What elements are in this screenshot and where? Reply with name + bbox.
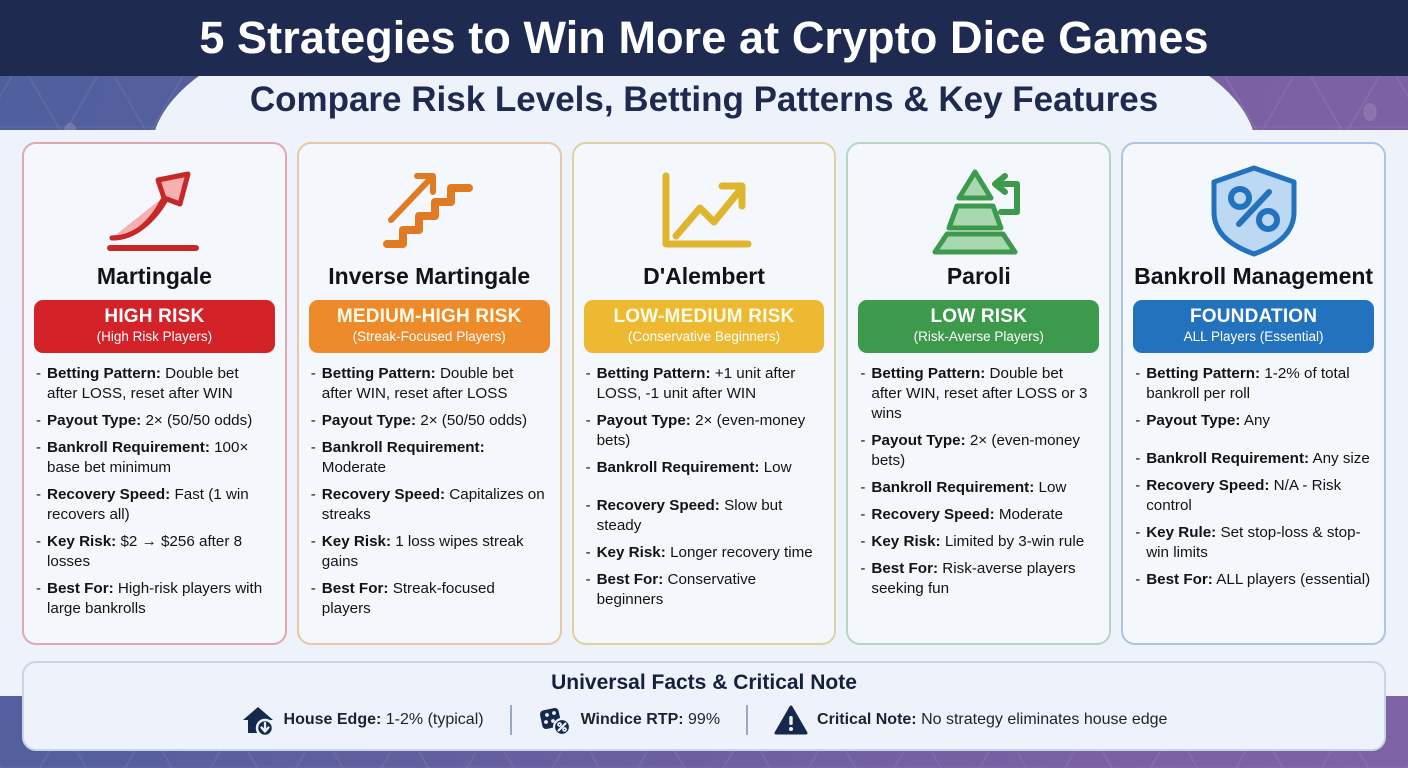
bullet-label: Key Risk: [47, 533, 116, 550]
house-down-arrow-icon [241, 704, 275, 736]
list-item: -Recovery Speed: Slow but steady [586, 496, 823, 536]
list-item: -Betting Pattern: +1 unit after LOSS, -1… [586, 364, 823, 404]
bullet-dash: - [36, 485, 47, 525]
badge-main-label: LOW-MEDIUM RISK [588, 307, 821, 328]
page-subtitle: Compare Risk Levels, Betting Patterns & … [0, 80, 1408, 120]
bullet-label: Bankroll Requirement: [322, 439, 485, 456]
list-item: -Key Rule: Set stop-loss & stop-win limi… [1135, 523, 1372, 563]
bullet-value: Moderate [999, 506, 1063, 523]
bullet-value: Limited by 3-win rule [945, 533, 1084, 550]
line-chart-icon [584, 158, 825, 262]
bullet-dash: - [36, 438, 47, 478]
bullet-value: 2× (50/50 odds) [420, 412, 527, 429]
bullet-dash: - [586, 496, 597, 536]
bullet-label: Best For: [597, 571, 664, 588]
fact-critical-note: Critical Note: No strategy eliminates ho… [748, 704, 1193, 736]
list-item: -Recovery Speed: Capitalizes on streaks [311, 485, 548, 525]
bullet-label: Key Risk: [871, 533, 940, 550]
list-item: -Key Risk: Longer recovery time [586, 543, 823, 563]
bullet-dash: - [1135, 570, 1146, 590]
bullet-dash: - [311, 411, 322, 431]
bullet-label: Bankroll Requirement: [597, 459, 760, 476]
bullet-dash: - [36, 364, 47, 404]
card-title: Inverse Martingale [328, 264, 530, 289]
bullet-label: Betting Pattern: [871, 365, 985, 382]
list-item: -Key Risk: 1 loss wipes streak gains [311, 532, 548, 572]
list-item: -Recovery Speed: Fast (1 win recovers al… [36, 485, 273, 525]
list-item: -Betting Pattern: Double bet after WIN, … [311, 364, 548, 404]
bullet-dash: - [1135, 411, 1146, 431]
footer-title: Universal Facts & Critical Note [551, 671, 857, 695]
strategy-card-martingale[interactable]: Martingale HIGH RISK (High Risk Players)… [22, 142, 287, 645]
fact-label: Critical Note: [817, 711, 917, 728]
bullet-label: Payout Type: [597, 412, 691, 429]
universal-facts-panel: Universal Facts & Critical Note House Ed… [22, 661, 1386, 751]
strategy-card-inverse-martingale[interactable]: Inverse Martingale MEDIUM-HIGH RISK (Str… [297, 142, 562, 645]
list-item: -Payout Type: 2× (even-money bets) [860, 431, 1097, 471]
badge-sub-label: ALL Players (Essential) [1137, 329, 1370, 345]
bullet-label: Key Rule: [1146, 524, 1216, 541]
bullet-dash: - [36, 411, 47, 431]
bullet-dash: - [1135, 449, 1146, 469]
list-item: -Best For: High-risk players with large … [36, 579, 273, 619]
bullet-label: Recovery Speed: [1146, 477, 1269, 494]
bullet-value: Any [1244, 412, 1270, 429]
card-title: D'Alembert [643, 264, 765, 289]
list-item: -Payout Type: Any [1135, 411, 1372, 431]
list-item: -Payout Type: 2× (50/50 odds) [36, 411, 273, 431]
bullet-dash: - [311, 579, 322, 619]
list-item: -Payout Type: 2× (even-money bets) [586, 411, 823, 451]
list-item: -Betting Pattern: Double bet after WIN, … [860, 364, 1097, 424]
bullet-dash: - [586, 543, 597, 563]
bullet-dash: - [586, 411, 597, 451]
bullet-dash: - [586, 364, 597, 404]
status-badge: LOW-MEDIUM RISK (Conservative Beginners) [584, 300, 825, 352]
bullet-dash: - [1135, 523, 1146, 563]
bullet-dash: - [860, 505, 871, 525]
bullet-label: Payout Type: [871, 432, 965, 449]
fact-label: Windice RTP: [581, 711, 684, 728]
bullet-label: Best For: [322, 580, 389, 597]
bullet-dash: - [36, 532, 47, 572]
bullet-dash: - [1135, 476, 1146, 516]
bullet-label: Bankroll Requirement: [47, 439, 210, 456]
bullet-dash: - [860, 532, 871, 552]
bullet-value: ALL players (essential) [1216, 571, 1370, 588]
strategy-card-dalembert[interactable]: D'Alembert LOW-MEDIUM RISK (Conservative… [572, 142, 837, 645]
badge-main-label: FOUNDATION [1137, 307, 1370, 328]
card-title: Bankroll Management [1134, 264, 1373, 289]
bullet-label: Betting Pattern: [47, 365, 161, 382]
dice-icon [538, 704, 572, 736]
status-badge: HIGH RISK (High Risk Players) [34, 300, 275, 352]
list-item: -Key Risk: $2 → $256 after 8 losses [36, 532, 273, 572]
bullet-value: Low [1039, 479, 1067, 496]
bullet-label: Betting Pattern: [597, 365, 711, 382]
badge-sub-label: (High Risk Players) [38, 329, 271, 345]
bullet-dash: - [311, 485, 322, 525]
fact-value: No strategy eliminates house edge [921, 711, 1167, 728]
header-bar: 5 Strategies to Win More at Crypto Dice … [0, 0, 1408, 76]
badge-sub-label: (Conservative Beginners) [588, 329, 821, 345]
bullet-dash: - [36, 579, 47, 619]
badge-sub-label: (Risk-Averse Players) [862, 329, 1095, 345]
bullet-value: Low [764, 459, 792, 476]
bullet-label: Recovery Speed: [322, 486, 445, 503]
bullet-dash: - [860, 364, 871, 424]
list-item: -Bankroll Requirement: Moderate [311, 438, 548, 478]
fact-value: 1-2% (typical) [386, 711, 484, 728]
list-item: -Bankroll Requirement: Any size [1135, 449, 1372, 469]
bullet-label: Best For: [1146, 571, 1213, 588]
bullet-label: Recovery Speed: [597, 497, 720, 514]
status-badge: LOW RISK (Risk-Averse Players) [858, 300, 1099, 352]
bullet-dash: - [586, 458, 597, 478]
bullet-dash: - [586, 570, 597, 610]
staircase-arrow-icon [309, 158, 550, 262]
bullet-label: Key Risk: [322, 533, 391, 550]
bullet-value: 2× (50/50 odds) [145, 412, 252, 429]
shield-percent-icon [1133, 158, 1374, 262]
bullet-label: Betting Pattern: [322, 365, 436, 382]
badge-main-label: MEDIUM-HIGH RISK [313, 307, 546, 328]
card-title: Paroli [947, 264, 1011, 289]
fact-value: 99% [688, 711, 720, 728]
list-item: -Best For: Conservative beginners [586, 570, 823, 610]
bullet-dash: - [860, 431, 871, 471]
strategy-card-bankroll-management[interactable]: Bankroll Management FOUNDATION ALL Playe… [1121, 142, 1386, 645]
bullet-label: Recovery Speed: [871, 506, 994, 523]
status-badge: FOUNDATION ALL Players (Essential) [1133, 300, 1374, 352]
badge-main-label: LOW RISK [862, 307, 1095, 328]
list-item: -Key Risk: Limited by 3-win rule [860, 532, 1097, 552]
list-item: -Best For: Streak-focused players [311, 579, 548, 619]
list-item: -Recovery Speed: Moderate [860, 505, 1097, 525]
status-badge: MEDIUM-HIGH RISK (Streak-Focused Players… [309, 300, 550, 352]
rising-arrow-icon [34, 158, 275, 262]
bullet-label: Payout Type: [47, 412, 141, 429]
list-item: -Bankroll Requirement: 100× base bet min… [36, 438, 273, 478]
infographic-page: 5 Strategies to Win More at Crypto Dice … [0, 0, 1408, 768]
list-item: -Betting Pattern: Double bet after LOSS,… [36, 364, 273, 404]
fact-label: House Edge: [284, 711, 382, 728]
list-item: -Bankroll Requirement: Low [586, 458, 823, 478]
list-item: -Recovery Speed: N/A - Risk control [1135, 476, 1372, 516]
card-bullet-list: -Betting Pattern: +1 unit after LOSS, -1… [584, 364, 825, 635]
fact-windice-rtp: Windice RTP: 99% [512, 704, 746, 736]
fact-house-edge: House Edge: 1-2% (typical) [215, 704, 510, 736]
strategy-card-paroli[interactable]: Paroli LOW RISK (Risk-Averse Players) -B… [846, 142, 1111, 645]
bullet-dash: - [860, 559, 871, 599]
bullet-value: Longer recovery time [670, 544, 813, 561]
bullet-label: Key Risk: [597, 544, 666, 561]
bullet-label: Bankroll Requirement: [1146, 450, 1309, 467]
bullet-dash: - [311, 438, 322, 478]
bullet-value: Moderate [322, 459, 386, 476]
warning-triangle-icon [774, 704, 808, 736]
list-item: -Best For: Risk-averse players seeking f… [860, 559, 1097, 599]
card-bullet-list: -Betting Pattern: Double bet after LOSS,… [34, 364, 275, 635]
list-item: -Best For: ALL players (essential) [1135, 570, 1372, 590]
footer-items-row: House Edge: 1-2% (typical) [24, 704, 1384, 736]
card-title: Martingale [97, 264, 212, 289]
bullet-dash: - [860, 478, 871, 498]
card-bullet-list: -Betting Pattern: Double bet after WIN, … [858, 364, 1099, 635]
bullet-label: Betting Pattern: [1146, 365, 1260, 382]
pyramid-reset-icon [858, 158, 1099, 262]
bullet-dash: - [1135, 364, 1146, 404]
list-item: -Betting Pattern: 1-2% of total bankroll… [1135, 364, 1372, 404]
bullet-value: Any size [1312, 450, 1369, 467]
page-title: 5 Strategies to Win More at Crypto Dice … [199, 12, 1208, 64]
bullet-label: Recovery Speed: [47, 486, 170, 503]
badge-sub-label: (Streak-Focused Players) [313, 329, 546, 345]
card-bullet-list: -Betting Pattern: Double bet after WIN, … [309, 364, 550, 635]
bullet-label: Payout Type: [1146, 412, 1240, 429]
card-bullet-list: -Betting Pattern: 1-2% of total bankroll… [1133, 364, 1374, 635]
list-item: -Bankroll Requirement: Low [860, 478, 1097, 498]
strategy-cards-row: Martingale HIGH RISK (High Risk Players)… [22, 142, 1386, 645]
bullet-label: Bankroll Requirement: [871, 479, 1034, 496]
bullet-dash: - [311, 532, 322, 572]
bullet-dash: - [311, 364, 322, 404]
bullet-label: Payout Type: [322, 412, 416, 429]
bullet-label: Best For: [47, 580, 114, 597]
badge-main-label: HIGH RISK [38, 307, 271, 328]
bullet-label: Best For: [871, 560, 938, 577]
list-item: -Payout Type: 2× (50/50 odds) [311, 411, 548, 431]
